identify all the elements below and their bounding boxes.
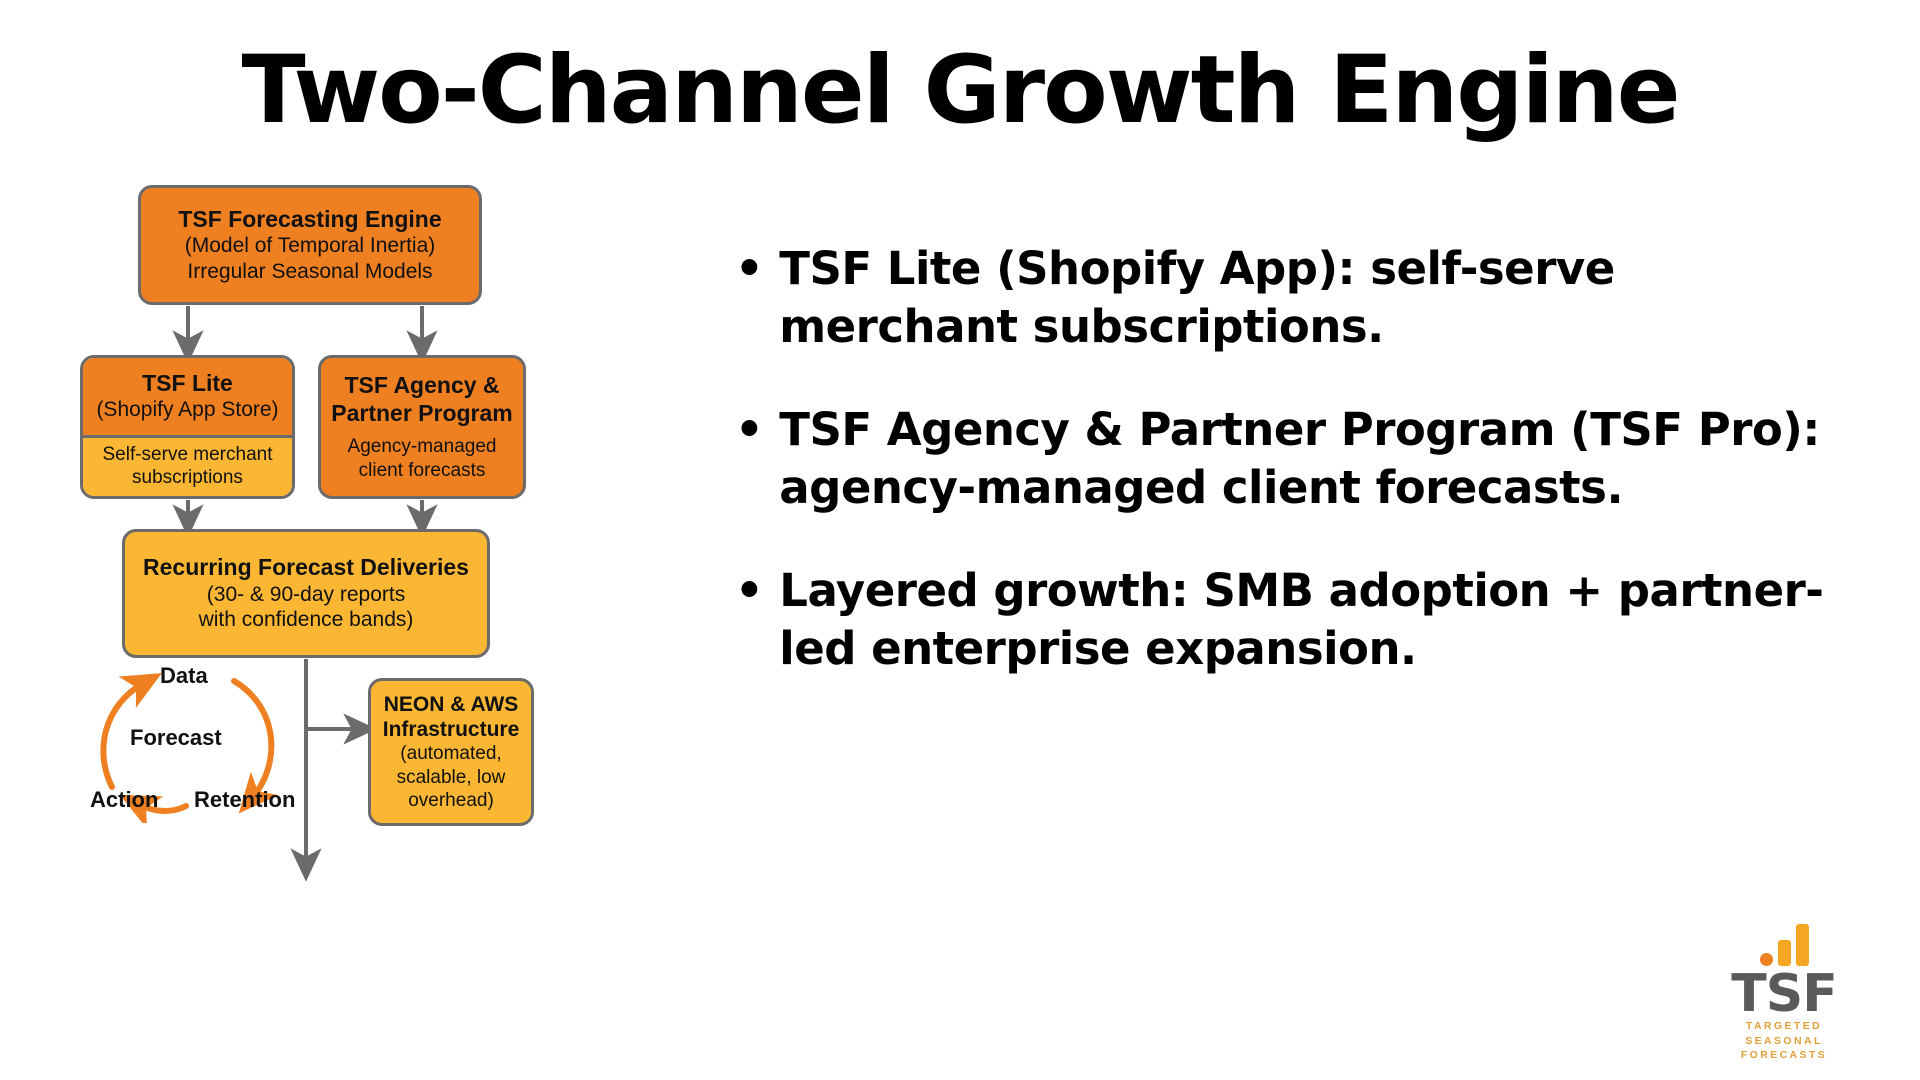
node-infra-sub2: scalable, low [381, 766, 521, 789]
node-lite-detail: Self-serve merchant subscriptions [83, 435, 292, 496]
node-infra-title-line1: NEON & AWS [381, 692, 521, 717]
node-engine-title: TSF Forecasting Engine [151, 206, 469, 234]
node-agency-body: TSF Agency & Partner Program Agency-mana… [321, 368, 523, 486]
node-agency-detail-line2: client forecasts [331, 459, 513, 482]
arrow-deliveries-to-infra [306, 659, 360, 729]
flow-diagram: TSF Forecasting Engine (Model of Tempora… [0, 185, 700, 1075]
logo-tagline-line2: SEASONAL FORECASTS [1700, 1034, 1868, 1062]
logo-wordmark: TSF [1700, 970, 1868, 1019]
bullet-item-2: • TSF Agency & Partner Program (TSF Pro)… [735, 401, 1845, 516]
cycle-arc-data-to-retention [234, 681, 271, 798]
node-lite-header: TSF Lite (Shopify App Store) [83, 358, 292, 435]
node-deliveries-sub1: (30- & 90-day reports [135, 582, 477, 608]
bullet-item-1: • TSF Lite (Shopify App): self-serve mer… [735, 240, 1845, 355]
feedback-cycle: Data Forecast Action Retention [82, 663, 312, 823]
node-tsf-agency-partner[interactable]: TSF Agency & Partner Program Agency-mana… [318, 355, 526, 499]
node-agency-title-line2: Partner Program [331, 400, 513, 428]
node-engine-sub1: (Model of Temporal Inertia) [151, 233, 469, 259]
page-title: Two-Channel Growth Engine [0, 42, 1920, 141]
logo-bar-tall [1796, 924, 1809, 966]
node-infra-body: NEON & AWS Infrastructure (automated, sc… [371, 688, 531, 816]
bullet-marker-1: • [735, 240, 763, 298]
bullet-list: • TSF Lite (Shopify App): self-serve mer… [735, 240, 1845, 724]
node-lite-title: TSF Lite [93, 370, 282, 398]
bullet-marker-2: • [735, 401, 763, 459]
cycle-label-forecast: Forecast [130, 725, 222, 751]
node-deliveries-title: Recurring Forecast Deliveries [135, 554, 477, 582]
node-recurring-forecast-deliveries[interactable]: Recurring Forecast Deliveries (30- & 90-… [122, 529, 490, 658]
node-engine-sub2: Irregular Seasonal Models [151, 259, 469, 285]
bullet-text-2: TSF Agency & Partner Program (TSF Pro): … [779, 401, 1845, 516]
bar-chart-icon [1700, 924, 1868, 966]
node-lite-sub: (Shopify App Store) [93, 397, 282, 423]
bullet-text-1: TSF Lite (Shopify App): self-serve merch… [779, 240, 1845, 355]
node-infra-title-line2: Infrastructure [381, 717, 521, 742]
node-deliveries-sub2: with confidence bands) [135, 607, 477, 633]
node-lite-detail-line2: subscriptions [93, 466, 282, 489]
node-agency-detail-line1: Agency-managed [331, 435, 513, 458]
node-deliveries-body: Recurring Forecast Deliveries (30- & 90-… [125, 550, 487, 637]
cycle-label-data: Data [160, 663, 208, 689]
cycle-label-retention: Retention [194, 787, 295, 813]
cycle-label-action: Action [90, 787, 158, 813]
node-agency-title-line1: TSF Agency & [331, 372, 513, 400]
node-engine-body: TSF Forecasting Engine (Model of Tempora… [141, 202, 479, 289]
bullet-text-3: Layered growth: SMB adoption + partner-l… [779, 562, 1845, 677]
node-tsf-lite[interactable]: TSF Lite (Shopify App Store) Self-serve … [80, 355, 295, 499]
node-lite-detail-line1: Self-serve merchant [93, 443, 282, 466]
node-neon-aws-infrastructure[interactable]: NEON & AWS Infrastructure (automated, sc… [368, 678, 534, 826]
logo-tagline-line1: TARGETED [1700, 1019, 1868, 1033]
node-forecasting-engine[interactable]: TSF Forecasting Engine (Model of Tempora… [138, 185, 482, 305]
tsf-logo: TSF TARGETED SEASONAL FORECASTS [1700, 924, 1868, 1062]
bullet-item-3: • Layered growth: SMB adoption + partner… [735, 562, 1845, 677]
logo-bar-mid [1778, 940, 1791, 966]
bullet-marker-3: • [735, 562, 763, 620]
node-infra-sub3: overhead) [381, 789, 521, 812]
node-infra-sub1: (automated, [381, 742, 521, 765]
